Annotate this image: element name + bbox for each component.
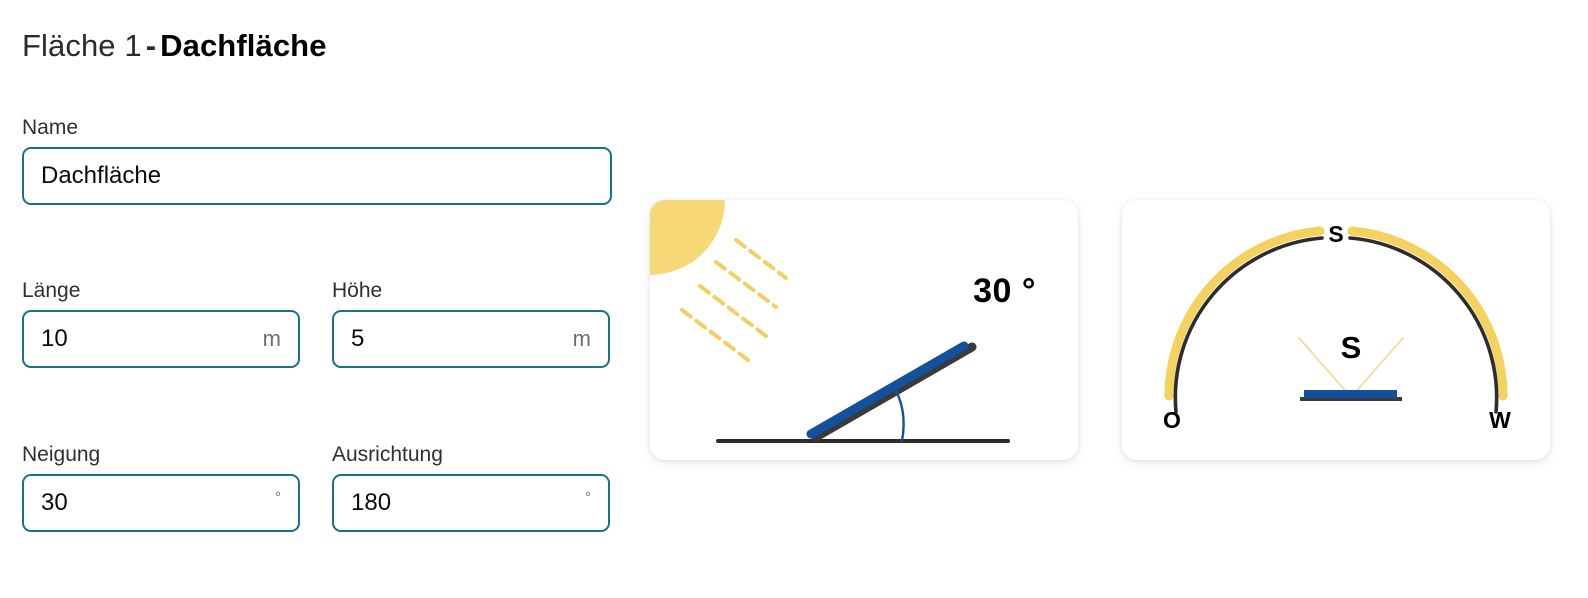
ausrichtung-input[interactable]: 180 °	[332, 474, 610, 532]
hoehe-unit: m	[565, 327, 591, 351]
compass-label-top: S	[1328, 221, 1343, 247]
neigung-input[interactable]: 30 °	[22, 474, 300, 532]
name-input-value: Dachfläche	[41, 162, 593, 190]
tilt-degree-readout: 30 °	[973, 272, 1036, 311]
area-name: Dachfläche	[160, 28, 326, 63]
orientation-compass-card: S O W S	[1122, 200, 1550, 460]
ausrichtung-input-value: 180	[351, 489, 577, 517]
field-label-laenge: Länge	[22, 278, 300, 303]
field-ausrichtung: Ausrichtung 180 °	[332, 442, 610, 532]
title-separator: -	[142, 28, 160, 63]
field-label-neigung: Neigung	[22, 442, 300, 467]
name-input[interactable]: Dachfläche	[22, 147, 612, 205]
laenge-input-value: 10	[41, 325, 255, 353]
field-hoehe: Höhe 5 m	[332, 278, 610, 368]
app-root: Fläche 1-Dachfläche Name Dachfläche Läng…	[0, 0, 1588, 598]
laenge-unit: m	[255, 327, 281, 351]
neigung-unit: °	[267, 486, 281, 510]
compass-svg: S O W S	[1122, 200, 1550, 460]
hoehe-input[interactable]: 5 m	[332, 310, 610, 368]
field-laenge: Länge 10 m	[22, 278, 300, 368]
compass-label-center: S	[1341, 330, 1362, 365]
solar-panel-icon	[811, 346, 964, 434]
field-label-hoehe: Höhe	[332, 278, 610, 303]
compass-label-right: W	[1489, 407, 1511, 433]
neigung-input-value: 30	[41, 489, 267, 517]
sun-rays-icon	[682, 240, 786, 360]
compass-arc-left-icon	[1175, 238, 1322, 412]
hoehe-input-value: 5	[351, 325, 565, 353]
ausrichtung-unit: °	[577, 486, 591, 510]
page-title: Fläche 1-Dachfläche	[22, 27, 327, 65]
field-label-ausrichtung: Ausrichtung	[332, 442, 610, 467]
tilt-illustration-svg	[650, 200, 1078, 460]
field-label-name: Name	[22, 115, 612, 140]
laenge-input[interactable]: 10 m	[22, 310, 300, 368]
compass-highlight-arc-left-icon	[1169, 231, 1320, 396]
area-label: Fläche 1	[22, 28, 142, 63]
tilt-illustration-card: 30 °	[650, 200, 1078, 460]
field-name: Name Dachfläche	[22, 115, 612, 205]
compass-label-left: O	[1163, 407, 1181, 433]
sun-quarter-icon	[650, 200, 725, 275]
compass-arc-right-icon	[1350, 238, 1497, 412]
field-neigung: Neigung 30 °	[22, 442, 300, 532]
solar-panel-frame-icon	[816, 347, 972, 437]
